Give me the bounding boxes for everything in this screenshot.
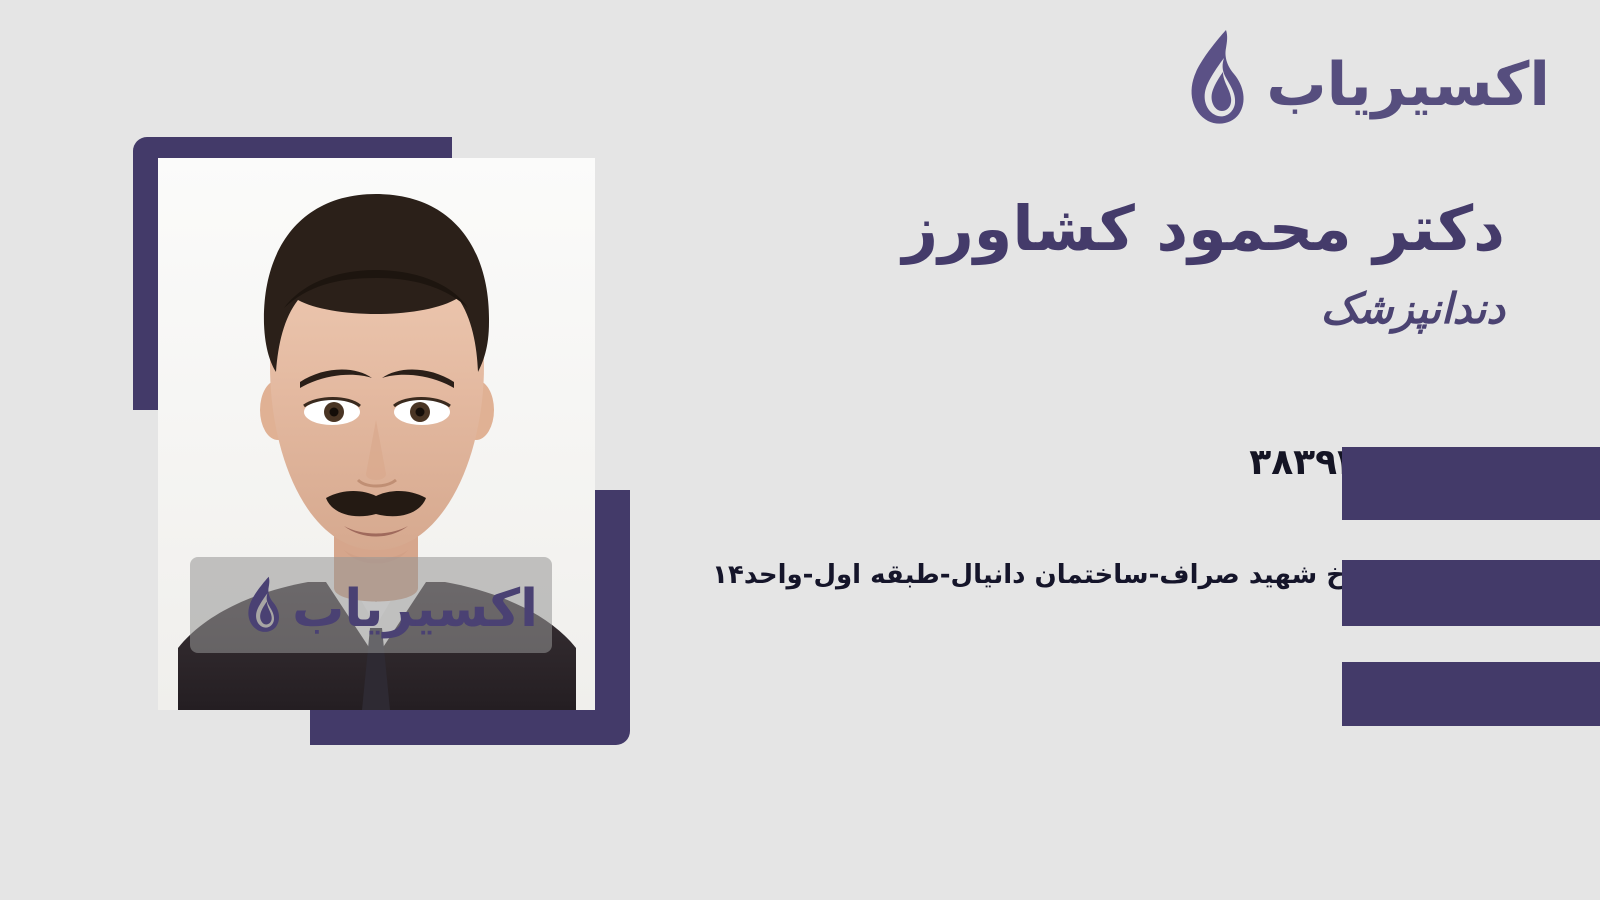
doctor-address: خ شهید صراف-ساختمان دانیال-طبقه اول-واحد… (712, 560, 1345, 590)
doctor-name: دکتر محمود کشاورز (765, 190, 1505, 268)
portrait-zone: اکسیریاب (0, 0, 700, 900)
flame-droplet-icon (1174, 28, 1252, 128)
brand-logo[interactable]: اکسیریاب (1174, 28, 1550, 128)
brand-name: اکسیریاب (1266, 55, 1550, 115)
watermark-flame-droplet-icon (238, 574, 284, 636)
photo-watermark: اکسیریاب (190, 557, 552, 653)
decor-bar-1 (1342, 447, 1600, 520)
decor-bar-2 (1342, 560, 1600, 626)
decor-bar-3 (1342, 662, 1600, 726)
doctor-specialty: دندانپزشک (765, 284, 1505, 334)
watermark-brand-name: اکسیریاب (292, 583, 538, 635)
doctor-info: دکتر محمود کشاورز دندانپزشک (765, 190, 1505, 334)
business-card: اکسیریاب (0, 0, 1600, 900)
